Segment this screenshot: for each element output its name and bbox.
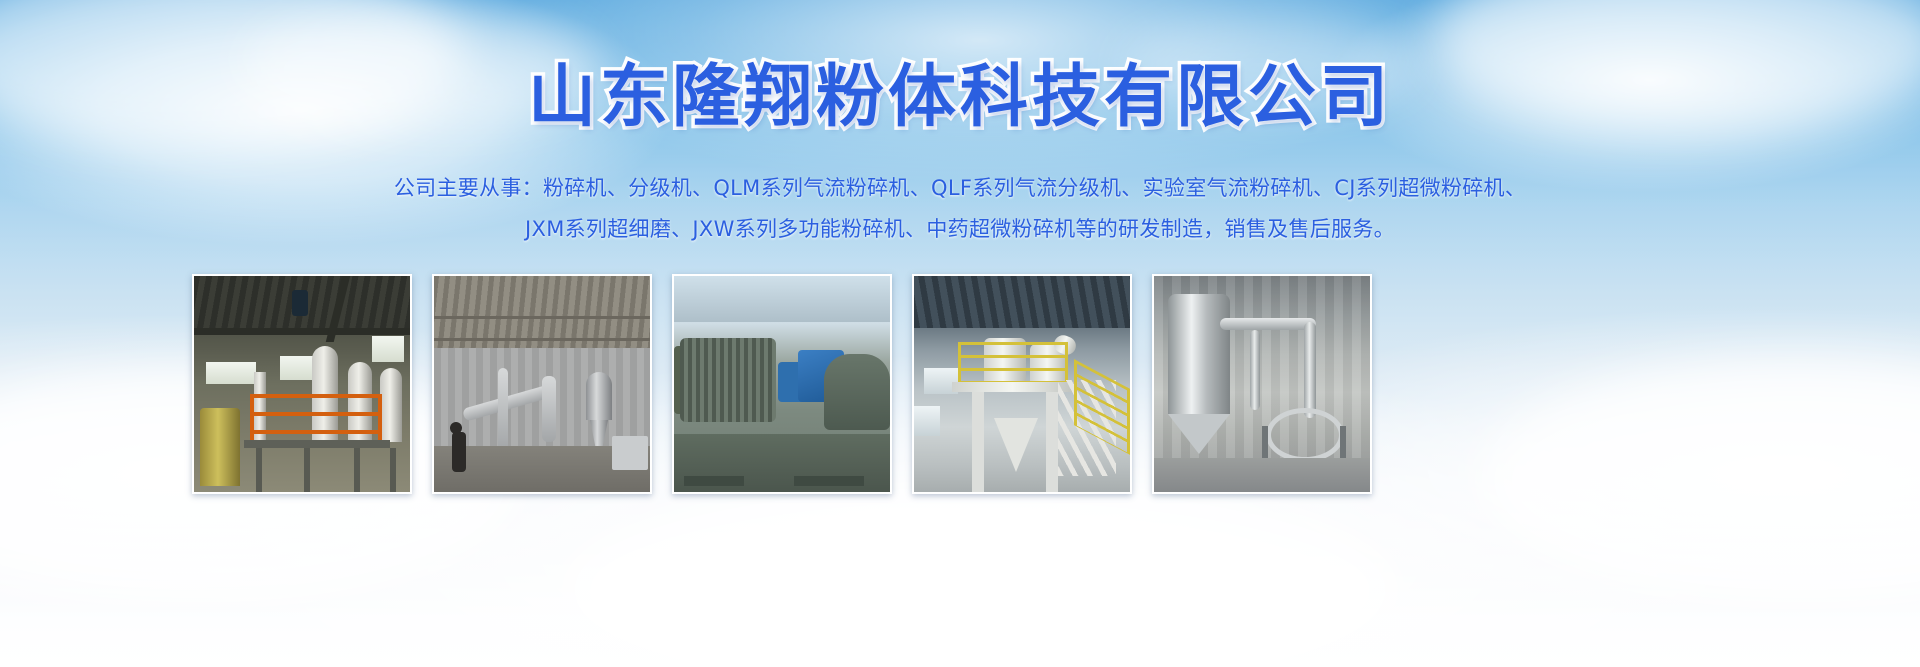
support-leg [354,448,360,494]
gallery-photo-airflow-mill-line[interactable] [192,274,412,494]
support-leg [256,448,262,494]
silo [380,368,402,442]
silo-discharge-cone [1168,414,1230,454]
equipment-frame [612,436,648,470]
window [914,406,940,436]
photo-scene [914,276,1130,492]
electric-motor [680,338,776,422]
drive-motor [292,290,308,316]
company-description: 公司主要从事：粉碎机、分级机、QLM系列气流粉碎机、QLF系列气流分级机、实验室… [260,168,1660,250]
stainless-silo [1168,294,1230,414]
cyclone-separator [586,372,612,420]
photo-scene [194,276,410,492]
mounting-foot [684,476,744,486]
circular-pipe-loop [1266,408,1344,462]
vertical-column [498,368,508,450]
gallery-photo-stainless-tank-piping[interactable] [1152,274,1372,494]
platform-deck [244,440,390,448]
page-title: 山东隆翔粉体科技有限公司 [0,55,1920,141]
support-leg [390,448,396,494]
yellow-safety-railing [958,342,1068,384]
vertical-pipe [1304,322,1316,418]
gallery-photo-motor-and-crusher[interactable] [672,274,892,494]
product-photo-gallery [192,274,1728,494]
gallery-photo-workshop-wide-view[interactable] [432,274,652,494]
ceiling-beam [194,328,412,335]
photo-scene [434,276,650,492]
roof-truss [434,338,652,341]
discharge-cone [994,418,1038,472]
hero-banner: 山东隆翔粉体科技有限公司 公司主要从事：粉碎机、分级机、QLM系列气流粉碎机、Q… [0,0,1920,667]
photo-scene [1154,276,1370,492]
air-duct [542,376,556,442]
window [372,336,404,362]
support-column [1046,392,1058,494]
support-leg [304,448,310,494]
mounting-foot [794,476,864,486]
vertical-pipe [1250,330,1260,410]
horizontal-pipe [1220,318,1316,330]
worker-figure [452,432,466,472]
photo-scene [674,276,890,492]
description-line-1: 公司主要从事：粉碎机、分级机、QLM系列气流粉碎机、QLF系列气流分级机、实验室… [260,168,1660,209]
cloud-decoration [560,480,1400,667]
yellow-hopper [200,408,240,486]
concrete-floor [1154,458,1370,492]
support-column [972,392,984,494]
window [280,356,314,380]
worker-figure [450,422,462,434]
description-line-2: JXM系列超细磨、JXW系列多功能粉碎机、中药超微粉碎机等的研发制造，销售及售后… [260,209,1660,250]
roof-truss [434,316,652,319]
gallery-photo-white-plant-yellow-rail[interactable] [912,274,1132,494]
background-sky [674,276,890,322]
crusher-housing [824,354,890,430]
roof-structure [914,276,1130,328]
orange-safety-railing [250,394,382,442]
window [206,362,256,384]
